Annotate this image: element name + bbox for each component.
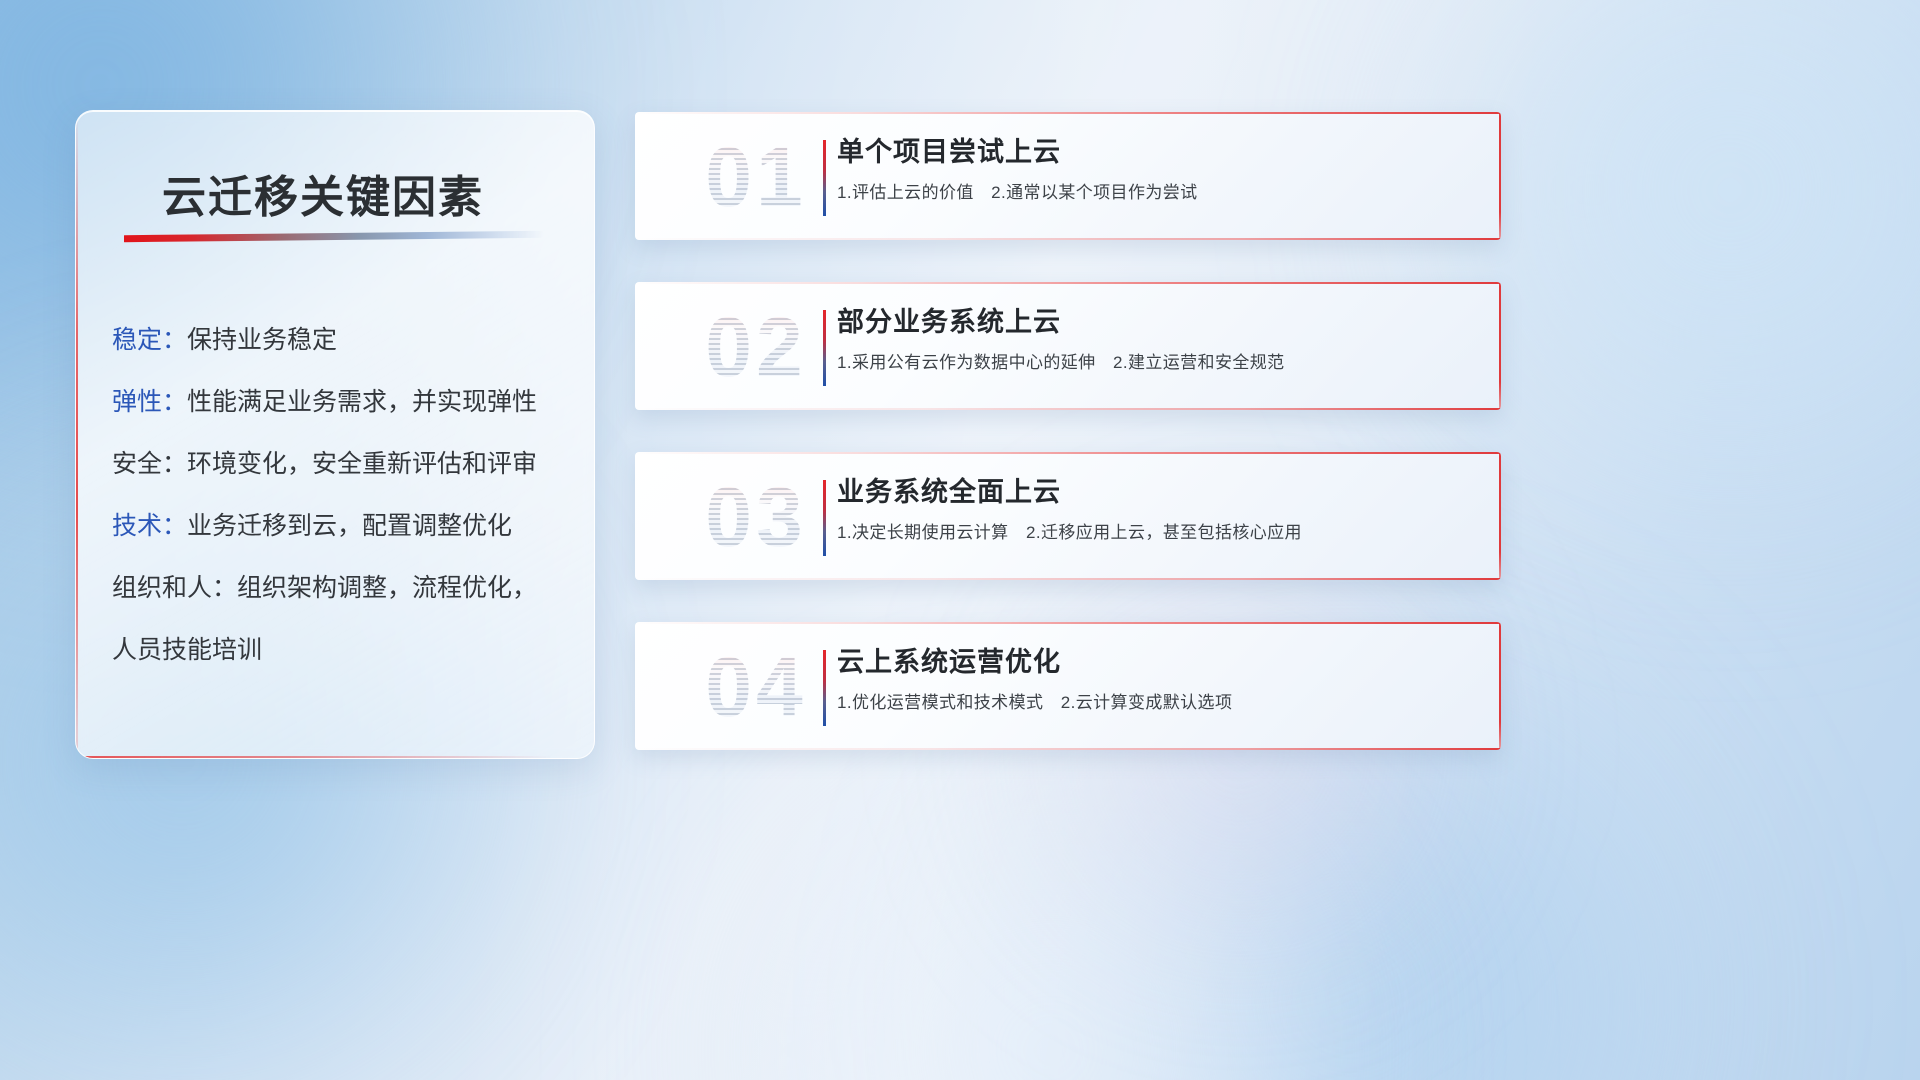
step-title: 部分业务系统上云 bbox=[837, 302, 1471, 342]
list-item-key: 稳定： bbox=[112, 326, 187, 354]
step-card[interactable]: 04 04 云上系统运营优化 1.优化运营模式和技术模式 2.云计算变成默认选项 bbox=[635, 622, 1501, 750]
list-item-value: 业务迁移到云，配置调整优化 bbox=[187, 512, 512, 540]
list-item-value: 组织架构调整，流程优化， bbox=[237, 574, 537, 602]
title-underline-gradient bbox=[124, 231, 544, 242]
step-description: 1.优化运营模式和技术模式 2.云计算变成默认选项 bbox=[837, 690, 1471, 716]
list-item-key: 安全： bbox=[112, 450, 187, 478]
card-top-accent bbox=[635, 112, 1501, 114]
step-content: 业务系统全面上云 1.决定长期使用云计算 2.迁移应用上云，甚至包括核心应用 bbox=[837, 472, 1471, 546]
step-content: 单个项目尝试上云 1.评估上云的价值 2.通常以某个项目作为尝试 bbox=[837, 132, 1471, 206]
key-factors-list: 稳定：保持业务稳定 弹性：性能满足业务需求，并实现弹性 安全：环境变化，安全重新… bbox=[112, 309, 572, 681]
list-item-continuation: 人员技能培训 bbox=[112, 619, 572, 681]
card-top-accent bbox=[635, 452, 1501, 454]
list-item: 组织和人：组织架构调整，流程优化， bbox=[112, 557, 572, 619]
migration-steps-list: 01 01 单个项目尝试上云 1.评估上云的价值 2.通常以某个项目作为尝试 0… bbox=[635, 112, 1501, 792]
card-right-accent bbox=[1499, 622, 1501, 750]
step-divider-bar bbox=[823, 310, 826, 386]
list-item-value: 人员技能培训 bbox=[112, 636, 262, 664]
list-item-key: 组织和人： bbox=[112, 574, 237, 602]
step-divider-bar bbox=[823, 480, 826, 556]
step-description: 1.决定长期使用云计算 2.迁移应用上云，甚至包括核心应用 bbox=[837, 520, 1471, 546]
list-item: 技术：业务迁移到云，配置调整优化 bbox=[112, 495, 572, 557]
panel-left-accent-line bbox=[76, 111, 78, 758]
list-item: 稳定：保持业务稳定 bbox=[112, 309, 572, 371]
card-top-accent bbox=[635, 282, 1501, 284]
list-item-value: 环境变化，安全重新评估和评审 bbox=[187, 450, 537, 478]
card-right-accent bbox=[1499, 112, 1501, 240]
list-item: 安全：环境变化，安全重新评估和评审 bbox=[112, 433, 572, 495]
step-title: 单个项目尝试上云 bbox=[837, 132, 1471, 172]
list-item-key: 弹性： bbox=[112, 388, 187, 416]
step-divider-bar bbox=[823, 650, 826, 726]
step-description: 1.采用公有云作为数据中心的延伸 2.建立运营和安全规范 bbox=[837, 350, 1471, 376]
card-bottom-accent bbox=[635, 748, 1501, 750]
step-title: 业务系统全面上云 bbox=[837, 472, 1471, 512]
card-top-accent bbox=[635, 622, 1501, 624]
key-factors-panel: 云迁移关键因素 稳定：保持业务稳定 弹性：性能满足业务需求，并实现弹性 安全：环… bbox=[75, 110, 595, 759]
step-content: 部分业务系统上云 1.采用公有云作为数据中心的延伸 2.建立运营和安全规范 bbox=[837, 302, 1471, 376]
card-bottom-accent bbox=[635, 408, 1501, 410]
step-card[interactable]: 02 02 部分业务系统上云 1.采用公有云作为数据中心的延伸 2.建立运营和安… bbox=[635, 282, 1501, 410]
card-bottom-accent bbox=[635, 578, 1501, 580]
list-item-key: 技术： bbox=[112, 512, 187, 540]
step-content: 云上系统运营优化 1.优化运营模式和技术模式 2.云计算变成默认选项 bbox=[837, 642, 1471, 716]
card-right-accent bbox=[1499, 282, 1501, 410]
list-item-value: 保持业务稳定 bbox=[187, 326, 337, 354]
step-description: 1.评估上云的价值 2.通常以某个项目作为尝试 bbox=[837, 180, 1471, 206]
step-title: 云上系统运营优化 bbox=[837, 642, 1471, 682]
list-item: 弹性：性能满足业务需求，并实现弹性 bbox=[112, 371, 572, 433]
page-title: 云迁移关键因素 bbox=[162, 161, 484, 225]
card-right-accent bbox=[1499, 452, 1501, 580]
step-card[interactable]: 03 03 业务系统全面上云 1.决定长期使用云计算 2.迁移应用上云，甚至包括… bbox=[635, 452, 1501, 580]
step-card[interactable]: 01 01 单个项目尝试上云 1.评估上云的价值 2.通常以某个项目作为尝试 bbox=[635, 112, 1501, 240]
list-item-value: 性能满足业务需求，并实现弹性 bbox=[187, 388, 537, 416]
panel-bottom-accent-line bbox=[76, 756, 594, 758]
card-bottom-accent bbox=[635, 238, 1501, 240]
step-divider-bar bbox=[823, 140, 826, 216]
